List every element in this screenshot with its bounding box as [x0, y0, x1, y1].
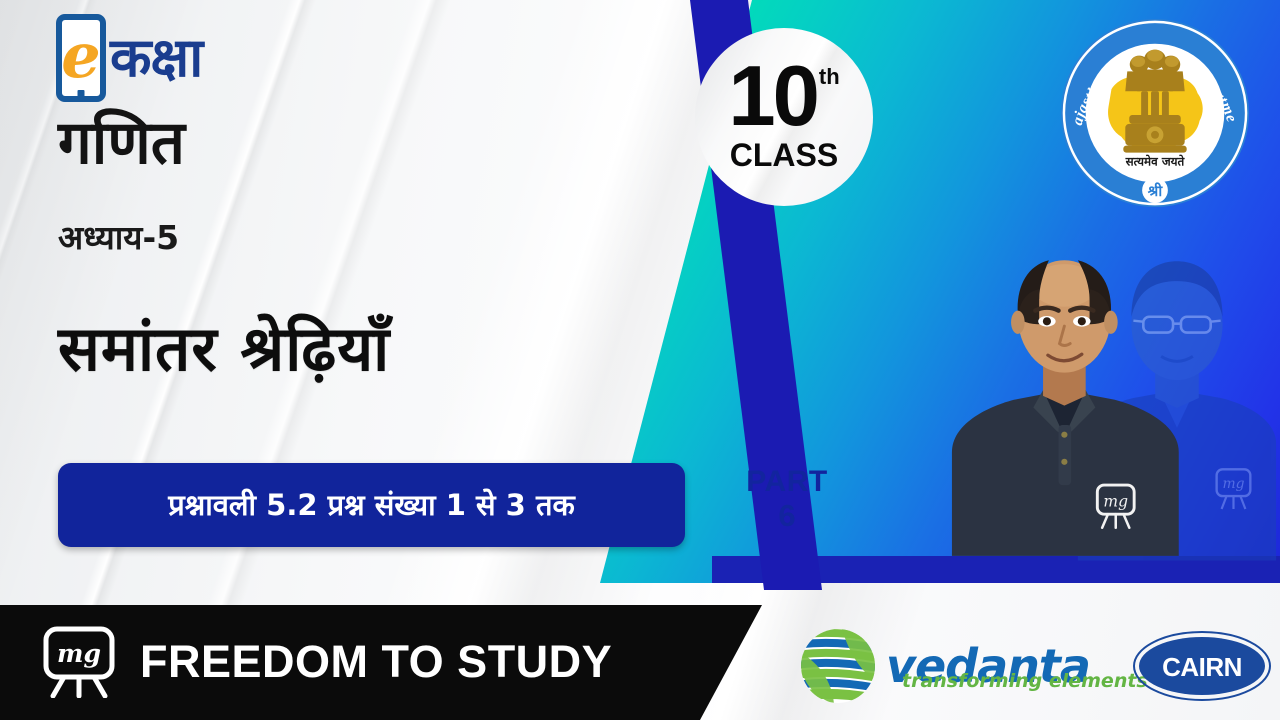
dept-emblem-icon: Rajasthan Education Department: [1056, 14, 1254, 212]
logo-letter-e: e: [61, 25, 100, 87]
logo-word-kaksha: कक्षा: [110, 31, 202, 85]
class-ordinal: th: [819, 64, 840, 90]
svg-text:mg: mg: [1103, 492, 1128, 510]
part-number: 6: [722, 499, 852, 534]
mg-logo: mg: [38, 624, 122, 698]
class-number-row: 10 th: [700, 60, 868, 135]
chapter-label: अध्याय-5: [58, 221, 179, 254]
dept-motto-text: सत्यमेव जयते: [1125, 154, 1186, 168]
ekaksha-logo: e कक्षा: [56, 14, 202, 102]
question-banner-label: प्रश्नावली 5.2 प्रश्न संख्या 1 से 3 तक: [168, 491, 575, 520]
instructor-photos: mg: [930, 216, 1280, 561]
class-number: 10: [728, 60, 817, 135]
svg-text:mg: mg: [1222, 476, 1244, 492]
mg-blackboard-icon: mg: [38, 624, 122, 698]
cairn-logo: CAIRN: [1132, 630, 1272, 702]
smartphone-icon: e: [56, 14, 106, 102]
vedanta-tagline: transforming elements: [902, 670, 1148, 692]
instructor-front-photo: mg: [950, 226, 1202, 561]
rajasthan-education-department-logo: Rajasthan Education Department: [1056, 14, 1254, 212]
subject-title: गणित: [58, 113, 185, 173]
footer-tagline: FREEDOM TO STUDY: [140, 628, 612, 696]
question-banner: प्रश्नावली 5.2 प्रश्न संख्या 1 से 3 तक: [58, 463, 685, 547]
vedanta-logo: vedanta: [790, 626, 1090, 706]
page-title: समांतर श्रेढ़ियाँ: [58, 310, 390, 388]
mg-monogram-text: mg: [57, 639, 101, 668]
class-badge: 10 th CLASS: [700, 60, 868, 174]
part-label: PART: [722, 465, 852, 499]
dept-monogram-text: श्री: [1148, 182, 1164, 200]
sponsor-logos: vedanta transforming elements CAIRN: [790, 612, 1280, 720]
cairn-wordmark: CAIRN: [1162, 652, 1242, 682]
cairn-badge-icon: CAIRN: [1132, 630, 1272, 702]
class-word: CLASS: [700, 137, 868, 174]
poster-canvas: e कक्षा गणित अध्याय-5 समांतर श्रेढ़ियाँ …: [0, 0, 1280, 720]
part-indicator: PART 6: [722, 465, 852, 533]
vedanta-globe-icon: [790, 626, 886, 706]
